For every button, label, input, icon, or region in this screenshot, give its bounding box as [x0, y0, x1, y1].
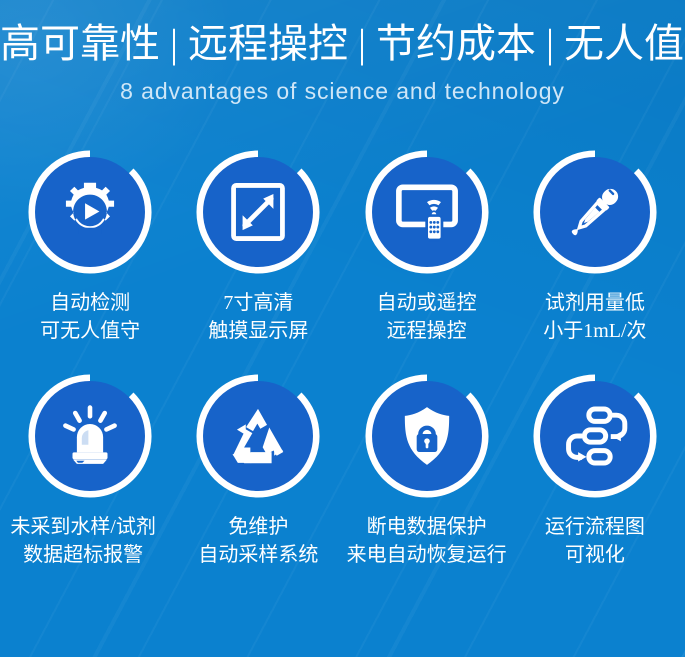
caption-line-1: 试剂用量低	[545, 292, 645, 314]
advantage-badge-7	[365, 374, 489, 498]
advantage-badge-6	[196, 374, 320, 498]
advantage-badge-5	[28, 374, 152, 498]
advantage-badge-1	[28, 150, 152, 274]
advantage-item-8[interactable]: 运行流程图 可视化	[511, 374, 679, 570]
dropper-pipette-icon	[540, 157, 650, 267]
recycle-icon	[203, 381, 313, 491]
caption-line-1: 自动检测	[50, 292, 130, 314]
shield-lock-icon	[372, 381, 482, 491]
caption-line-2: 数据超标报警	[10, 541, 156, 569]
page-subtitle: 8 advantages of science and technology	[0, 66, 685, 105]
flowchart-loop-icon	[540, 381, 650, 491]
advantage-item-5[interactable]: 未采到水样/试剂 数据超标报警	[6, 374, 174, 570]
advantage-item-1[interactable]: 自动检测 可无人值守	[6, 150, 174, 346]
caption-line-2: 来电自动恢复运行	[347, 541, 507, 569]
advantage-badge-8	[533, 374, 657, 498]
advantage-item-6[interactable]: 免维护 自动采样系统	[174, 374, 342, 570]
advantage-caption-4: 试剂用量低 小于1mL/次	[543, 289, 646, 346]
advantages-row-1: 自动检测 可无人值守	[0, 150, 685, 346]
advantage-badge-4	[533, 150, 657, 274]
poster-root: 高可靠性 | 远程操控 | 节约成本 | 无人值守 8 advantages o…	[0, 0, 685, 657]
advantage-item-7[interactable]: 断电数据保护 来电自动恢复运行	[343, 374, 511, 570]
advantage-item-4[interactable]: 试剂用量低 小于1mL/次	[511, 150, 679, 346]
advantage-caption-5: 未采到水样/试剂 数据超标报警	[10, 513, 156, 570]
caption-line-1: 自动或遥控	[377, 292, 477, 314]
advantage-caption-2: 7寸高清 触摸显示屏	[208, 289, 308, 346]
poster-header: 高可靠性 | 远程操控 | 节约成本 | 无人值守 8 advantages o…	[0, 0, 685, 105]
advantage-caption-7: 断电数据保护 来电自动恢复运行	[347, 513, 507, 570]
page-title: 高可靠性 | 远程操控 | 节约成本 | 无人值守	[0, 0, 685, 66]
advantage-caption-6: 免维护 自动采样系统	[198, 513, 318, 570]
advantage-item-3[interactable]: 自动或遥控 远程操控	[343, 150, 511, 346]
gear-play-icon	[35, 157, 145, 267]
monitor-remote-wifi-icon	[372, 157, 482, 267]
caption-line-1: 运行流程图	[545, 516, 645, 538]
advantages-grid: 自动检测 可无人值守	[0, 150, 685, 570]
caption-line-2: 可无人值守	[40, 317, 140, 345]
advantage-caption-1: 自动检测 可无人值守	[40, 289, 140, 346]
advantages-row-2: 未采到水样/试剂 数据超标报警	[0, 374, 685, 570]
caption-line-2: 可视化	[545, 541, 645, 569]
caption-line-2: 远程操控	[377, 317, 477, 345]
advantage-badge-2	[196, 150, 320, 274]
caption-line-1: 断电数据保护	[367, 516, 487, 538]
caption-line-1: 未采到水样/试剂	[10, 516, 156, 538]
advantage-caption-3: 自动或遥控 远程操控	[377, 289, 477, 346]
advantage-badge-3	[365, 150, 489, 274]
caption-line-2: 小于1mL/次	[543, 317, 646, 345]
alarm-siren-icon	[35, 381, 145, 491]
expand-arrows-icon	[203, 157, 313, 267]
caption-line-1: 免维护	[228, 516, 288, 538]
caption-line-1: 7寸高清	[223, 292, 293, 314]
advantage-caption-8: 运行流程图 可视化	[545, 513, 645, 570]
caption-line-2: 触摸显示屏	[208, 317, 308, 345]
caption-line-2: 自动采样系统	[198, 541, 318, 569]
advantage-item-2[interactable]: 7寸高清 触摸显示屏	[174, 150, 342, 346]
